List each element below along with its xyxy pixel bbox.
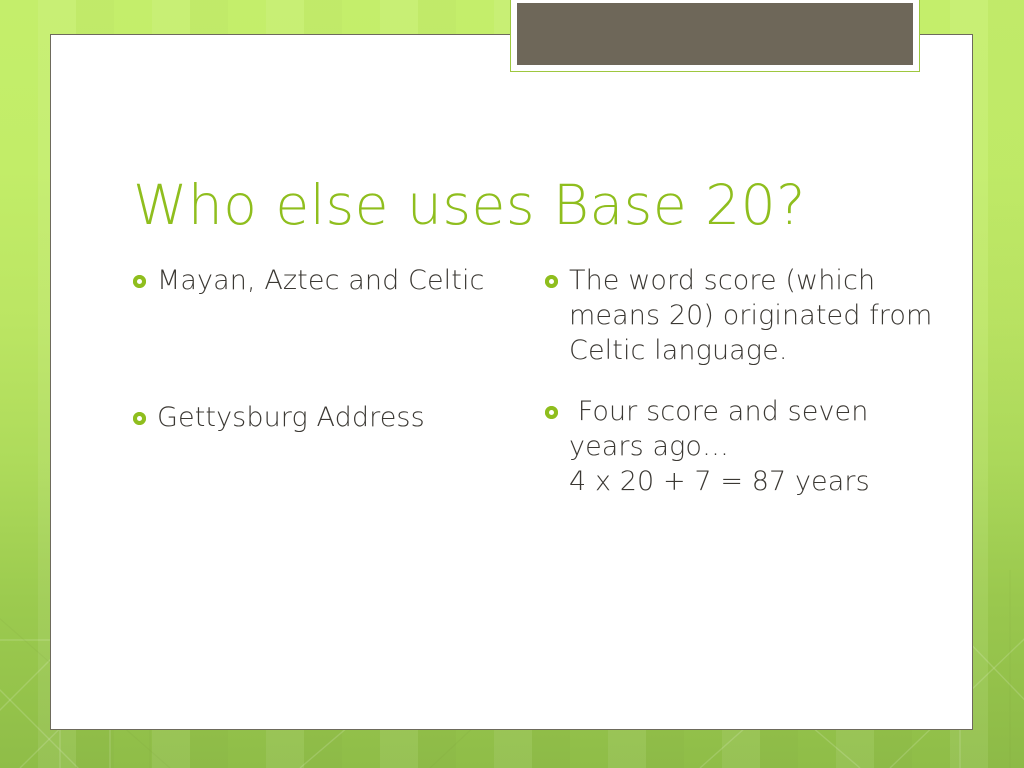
top-decorative-banner — [510, 0, 920, 72]
list-item-text: Mayan, Aztec and Celtic — [157, 263, 503, 298]
content-column-right: The word score (which means 20) originat… — [545, 263, 935, 510]
list-item-text: The word score (which means 20) originat… — [569, 263, 935, 368]
content-column-left: Mayan, Aztec and Celtic Gettysburg Addre… — [133, 263, 503, 510]
slide-canvas: Who else uses Base 20? Mayan, Aztec and … — [50, 34, 973, 730]
ring-bullet-icon — [545, 275, 558, 288]
list-item: Gettysburg Address — [133, 400, 503, 435]
page-title: Who else uses Base 20? — [133, 175, 933, 236]
slide-backdrop: Who else uses Base 20? Mayan, Aztec and … — [0, 0, 1024, 768]
list-item: The word score (which means 20) originat… — [545, 263, 935, 368]
ring-bullet-icon — [545, 406, 558, 419]
left-column-spacer — [133, 308, 503, 400]
ring-bullet-icon — [133, 412, 146, 425]
list-item: Four score and seven years ago… 4 x 20 +… — [545, 394, 935, 499]
list-item-text: Gettysburg Address — [157, 400, 503, 435]
top-banner-fill — [517, 3, 913, 65]
ring-bullet-icon — [133, 275, 146, 288]
right-column-spacer — [545, 378, 935, 394]
list-item: Mayan, Aztec and Celtic — [133, 263, 503, 298]
content-body: Mayan, Aztec and Celtic Gettysburg Addre… — [133, 263, 943, 510]
list-item-text: Four score and seven years ago… 4 x 20 +… — [569, 394, 935, 499]
